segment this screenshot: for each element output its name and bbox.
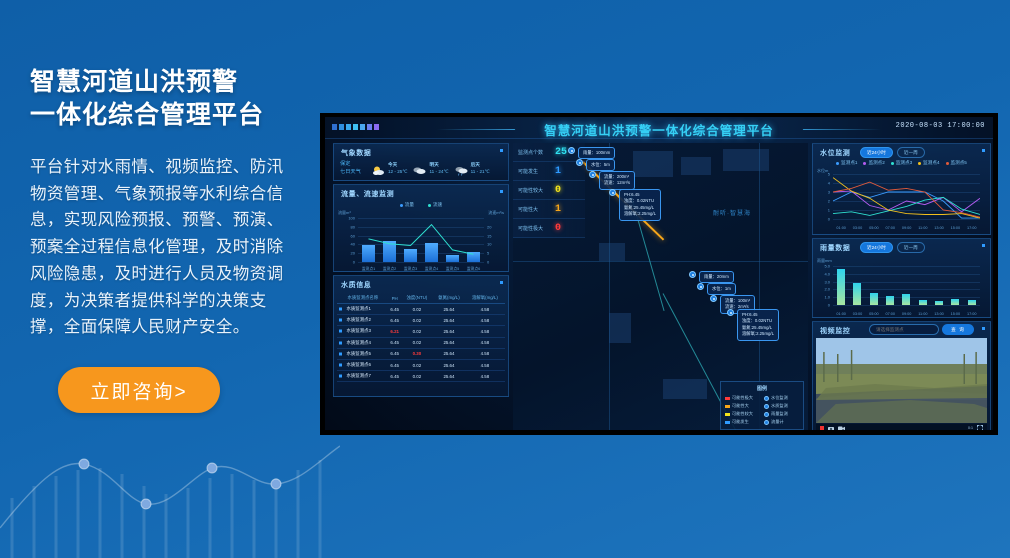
cell-point-name: 水质监测点7 [337, 371, 388, 382]
cell-ph: 6.21 [388, 326, 401, 337]
water-quality-icon[interactable] [727, 309, 734, 316]
bar [853, 283, 861, 305]
panel-indicator-dot [982, 327, 985, 330]
stat-label: 可能发生 [513, 168, 555, 175]
video-feed[interactable] [816, 338, 987, 423]
stat-value: 1 [555, 166, 561, 177]
bar [837, 269, 845, 305]
cell-dissolved-oxygen: 4.58 [465, 315, 504, 326]
video-controls[interactable]: 0:1 [816, 424, 987, 430]
cell-ammonia: 25.64 [433, 348, 466, 359]
table-col-header: 水质监测点名称 [337, 293, 388, 304]
legend-risk-item: 可能性极大 [725, 395, 760, 401]
cell-point-name: 水质监测点2 [337, 315, 388, 326]
table-row[interactable]: 水质监测点56.450.3025.644.58 [337, 348, 504, 359]
tab-rain-week[interactable]: 近一周 [897, 242, 925, 253]
legend-item-flow: 流量 [400, 202, 414, 208]
map-tooltip[interactable]: PH:6.45浊度：0.02NTU氨氮:25.45mg/L溶解氧:2.25mg/… [609, 189, 661, 221]
fullscreen-icon[interactable] [977, 425, 983, 430]
bar [902, 294, 910, 305]
cell-ph: 6.45 [388, 348, 401, 359]
x-tick: 17:00 [967, 226, 977, 230]
x-tick: 05:00 [869, 226, 879, 230]
x-tick: 03:00 [853, 312, 863, 316]
water-level-range-tabs[interactable]: 近24小时 近一周 [860, 147, 925, 158]
rainfall-panel: 雨量数据 近24小时 近一周 雨量mm 01.02.03.04.05.0 01:… [812, 238, 991, 318]
x-tick: 11:00 [918, 226, 927, 230]
flow-chart-legend: 流量 流速 [334, 202, 508, 208]
x-tick: 07:00 [886, 312, 896, 316]
record-icon[interactable] [820, 426, 824, 430]
map-legend: 图例 可能性极大水位监测可能性大水质监测可能性较大雨量监测可能发生流量计 [720, 381, 804, 430]
bar [935, 301, 943, 305]
tooltip-content: 雨量：100mm [578, 147, 615, 159]
x-tick: 09:00 [902, 226, 912, 230]
table-col-header: 氨氮(mg/L) [433, 293, 466, 304]
table-col-header: PH [388, 293, 401, 304]
weather-day-0-text: 今天 12 - 25℃ [388, 162, 407, 176]
legend-device-item: 流量计 [764, 419, 799, 425]
dashboard-header: 智慧河道山洪预警一体化综合管理平台 2020-08-03 17:00:00 [325, 117, 993, 139]
legend-item: 监测点1 [836, 160, 857, 166]
cell-ph: 6.45 [388, 371, 401, 382]
water-quality-panel: 水质信息 水质监测点名称PH浊度(NTU)氨氮(mg/L)溶解氧(mg/L) 水… [333, 275, 509, 397]
rain-gauge-icon [764, 412, 769, 417]
level-x-tick-labels: 01:0003:0005:0007:0009:0011:0013:0015:00… [833, 226, 980, 230]
legend-device-item: 水质监测 [764, 403, 799, 409]
tab-level-week[interactable]: 近一周 [897, 147, 925, 158]
dashboard-timestamp: 2020-08-03 17:00:00 [896, 122, 985, 130]
water-quality-panel-title: 水质信息 [334, 276, 508, 290]
bar [886, 296, 894, 305]
decorative-wave-graphic [0, 438, 340, 558]
x-tick: 03:00 [853, 226, 863, 230]
panel-indicator-dot [500, 149, 503, 152]
tooltip-content: 流量：200m³流速：12m³/s [599, 171, 635, 190]
video-timecode: 0:1 [968, 426, 973, 430]
cell-turbidity: 0.02 [401, 337, 432, 348]
cell-ph: 6.45 [388, 337, 401, 348]
weather-day-2-text: 后天 11 - 21℃ [471, 162, 490, 176]
stat-row: 可能性大1 [513, 200, 585, 219]
cell-ammonia: 25.64 [433, 371, 466, 382]
table-row[interactable]: 水质监测点76.450.0225.644.58 [337, 371, 504, 382]
x-tick: 监测点5 [446, 267, 460, 272]
cell-point-name: 水质监测点5 [337, 348, 388, 359]
map-tooltip[interactable]: 雨量：100mm [568, 147, 615, 159]
legend-item: 监测点5 [946, 160, 967, 166]
bar [951, 299, 959, 305]
rain-gauge-icon[interactable] [689, 271, 696, 278]
page-title: 智慧河道山洪预警 一体化综合管理平台 [30, 66, 300, 132]
table-row[interactable]: 水质监测点36.210.0225.644.58 [337, 326, 504, 337]
x-tick: 07:00 [886, 226, 896, 230]
bar [919, 300, 927, 305]
stat-value: 0 [555, 185, 561, 196]
legend-risk-item: 可能性大 [725, 403, 760, 409]
stat-row: 可能发生1 [513, 162, 585, 181]
table-row[interactable]: 水质监测点66.450.0225.644.58 [337, 359, 504, 370]
rain-icon [454, 163, 469, 174]
weather-city: 保定 七日天气 [340, 161, 366, 177]
map-tooltip[interactable]: PH:6.45浊度：0.02NTU氨氮:25.45mg/L溶解氧:2.25mg/… [727, 309, 779, 341]
legend-item-velocity: 流速 [428, 202, 442, 208]
marketing-column: 智慧河道山洪预警 一体化综合管理平台 平台针对水雨情、视频监控、防汛物资管理、气… [30, 66, 300, 413]
water-level-icon[interactable] [576, 159, 583, 166]
x-tick: 17:00 [967, 312, 977, 316]
map-tooltip[interactable]: 水位：1m [697, 283, 736, 295]
water-quality-icon [764, 404, 769, 409]
flow-meter-icon [764, 420, 769, 425]
level-y-axis-label: 水位m [817, 168, 828, 174]
legend-risk-item: 可能性较大 [725, 411, 760, 417]
table-row[interactable]: 水质监测点16.450.0225.644.58 [337, 304, 504, 315]
table-header-row: 水质监测点名称PH浊度(NTU)氨氮(mg/L)溶解氧(mg/L) [337, 293, 504, 304]
legend-device-item: 雨量监测 [764, 411, 799, 417]
cell-point-name: 水质监测点6 [337, 359, 388, 370]
cell-dissolved-oxygen: 4.58 [465, 304, 504, 315]
x-tick: 13:00 [934, 312, 944, 316]
x-tick: 01:00 [836, 312, 846, 316]
table-row[interactable]: 水质监测点26.450.0225.644.58 [337, 315, 504, 326]
monitor-point-input[interactable] [869, 324, 939, 335]
flow-monitor-panel: 流量、流速监测 流量 流速 流量m³ 流速m³/s 00205401060158… [333, 184, 509, 272]
flow-meter-icon[interactable] [710, 295, 717, 302]
cell-dissolved-oxygen: 4.58 [465, 348, 504, 359]
cell-ph: 6.45 [388, 315, 401, 326]
flow-meter-icon[interactable] [589, 171, 596, 178]
cell-ammonia: 25.64 [433, 337, 466, 348]
water-level-panel: 水位监测 近24小时 近一周 监测点1监测点2监测点3监测点4监测点5 水位m … [812, 143, 991, 235]
cell-ammonia: 25.64 [433, 326, 466, 337]
x-tick: 11:00 [918, 312, 927, 316]
cell-ph: 6.45 [388, 359, 401, 370]
tooltip-content: 水位：5m [586, 159, 615, 171]
flow-chart: 流量m³ 流速m³/s 00205401060158020100 监测点1监测点… [338, 210, 504, 272]
consult-now-button[interactable]: 立即咨询> [58, 367, 220, 413]
legend-device-item: 水位监测 [764, 395, 799, 401]
water-quality-table: 水质监测点名称PH浊度(NTU)氨氮(mg/L)溶解氧(mg/L) 水质监测点1… [337, 293, 504, 382]
video-surveillance-panel: 视频监控 查 询 [812, 321, 991, 430]
x-tick: 监测点3 [404, 267, 418, 272]
cloud-icon [412, 163, 427, 174]
cell-turbidity: 0.02 [401, 304, 432, 315]
table-col-header: 溶解氧(mg/L) [465, 293, 504, 304]
cell-ammonia: 25.64 [433, 304, 466, 315]
bar [968, 300, 976, 305]
cell-turbidity: 0.02 [401, 315, 432, 326]
rain-gauge-icon[interactable] [568, 147, 575, 154]
water-level-chart: 水位m 012345 01:0003:0005:0007:0009:0011:0… [817, 168, 986, 230]
cell-turbidity: 0.02 [401, 359, 432, 370]
bar [870, 293, 878, 305]
x-tick: 15:00 [951, 226, 961, 230]
tooltip-content: PH:6.45浊度：0.02NTU氨氮:25.45mg/L溶解氧:2.25mg/… [737, 309, 779, 341]
water-quality-icon[interactable] [609, 189, 616, 196]
stat-value: 25 [555, 147, 567, 158]
tooltip-content: PH:6.45浊度：0.02NTU氨氮:25.45mg/L溶解氧:2.25mg/… [619, 189, 661, 221]
tab-level-24h[interactable]: 近24小时 [860, 147, 893, 158]
stat-value: 0 [555, 223, 561, 234]
stat-label: 监测点个数 [513, 149, 555, 156]
x-tick: 13:00 [934, 226, 944, 230]
flow-panel-title: 流量、流速监测 [334, 185, 508, 199]
gis-map-panel[interactable]: 耐听·智慧海 监测点个数25可能发生1可能性较大0可能性大1可能性极大0 雨量：… [513, 143, 808, 430]
panel-indicator-dot [982, 244, 985, 247]
cell-dissolved-oxygen: 4.58 [465, 337, 504, 348]
stat-value: 1 [555, 204, 561, 215]
x-tick: 15:00 [951, 312, 961, 316]
map-tooltip[interactable]: 雨量：20mm [689, 271, 734, 283]
rainfall-range-tabs[interactable]: 近24小时 近一周 [860, 242, 925, 253]
cell-point-name: 水质监测点3 [337, 326, 388, 337]
legend-item: 监测点3 [891, 160, 912, 166]
cell-ammonia: 25.64 [433, 359, 466, 370]
water-level-legend: 监测点1监测点2监测点3监测点4监测点5 [813, 160, 990, 166]
tab-rain-24h[interactable]: 近24小时 [860, 242, 893, 253]
page-title-line2: 一体化综合管理平台 [30, 99, 300, 132]
cell-dissolved-oxygen: 4.58 [465, 371, 504, 382]
cell-dissolved-oxygen: 4.58 [465, 326, 504, 337]
stat-row: 可能性极大0 [513, 219, 585, 238]
map-watermark: 耐听·智慧海 [713, 208, 751, 217]
weather-day-2: 后天 11 - 21℃ [454, 162, 490, 176]
weather-day-0: 今天 12 - 25℃ [371, 162, 407, 176]
x-tick: 监测点2 [383, 267, 397, 272]
cell-turbidity: 0.02 [401, 371, 432, 382]
x-tick: 监测点1 [362, 267, 376, 272]
panel-indicator-dot [500, 190, 503, 193]
tooltip-content: 雨量：20mm [699, 271, 734, 283]
weather-panel-title: 气象数据 [334, 144, 508, 158]
cell-ph: 6.45 [388, 304, 401, 315]
cell-dissolved-oxygen: 4.58 [465, 359, 504, 370]
weather-day-1: 明天 11 - 24℃ [412, 162, 448, 176]
legend-item: 监测点4 [918, 160, 939, 166]
stat-label: 可能性大 [513, 206, 555, 213]
tooltip-content: 水位：1m [707, 283, 736, 295]
flow-x-tick-labels: 监测点1监测点2监测点3监测点4监测点5监测点6 [358, 267, 484, 272]
cell-point-name: 水质监测点4 [337, 337, 388, 348]
flow-y2-axis-label: 流速m³/s [488, 210, 504, 216]
cell-turbidity: 0.02 [401, 326, 432, 337]
map-legend-title: 图例 [725, 385, 799, 392]
dashboard-title: 智慧河道山洪预警一体化综合管理平台 [325, 120, 993, 139]
weather-panel: 气象数据 保定 七日天气 今天 12 - 25℃ [333, 143, 509, 181]
x-tick: 监测点4 [425, 267, 439, 272]
panel-indicator-dot [500, 281, 503, 284]
cell-point-name: 水质监测点1 [337, 304, 388, 315]
x-tick: 监测点6 [467, 267, 481, 272]
legend-risk-item: 可能发生 [725, 419, 760, 425]
x-tick: 01:00 [836, 226, 846, 230]
map-tooltip[interactable]: 流量：200m³流速：12m³/s [589, 171, 635, 190]
water-level-icon[interactable] [697, 283, 704, 290]
snapshot-icon[interactable] [828, 426, 834, 431]
legend-item: 监测点2 [863, 160, 884, 166]
stat-label: 可能性较大 [513, 187, 555, 194]
hero-description: 平台针对水雨情、视频监控、防汛物资管理、气象预报等水利综合信息，实现风险预报、预… [30, 154, 288, 341]
camera-icon[interactable] [838, 426, 845, 431]
cell-ammonia: 25.64 [433, 315, 466, 326]
rain-x-tick-labels: 01:0003:0005:0007:0009:0011:0013:0015:00… [833, 312, 980, 316]
rainfall-chart: 雨量mm 01.02.03.04.05.0 01:0003:0005:0007:… [817, 258, 986, 316]
stat-row: 可能性较大0 [513, 181, 585, 200]
x-tick: 05:00 [869, 312, 879, 316]
table-col-header: 浊度(NTU) [401, 293, 432, 304]
panel-indicator-dot [982, 149, 985, 152]
table-row[interactable]: 水质监测点46.450.0225.644.58 [337, 337, 504, 348]
x-tick: 09:00 [902, 312, 912, 316]
stat-label: 可能性极大 [513, 225, 555, 232]
sun-icon [371, 163, 386, 174]
video-search-button[interactable]: 查 询 [942, 324, 974, 335]
water-level-icon [764, 396, 769, 401]
weather-day-1-text: 明天 11 - 24℃ [429, 162, 448, 176]
dashboard-screenshot: 智慧河道山洪预警一体化综合管理平台 2020-08-03 17:00:00 气象… [320, 113, 998, 435]
map-tooltip[interactable]: 水位：5m [576, 159, 615, 171]
page-title-line1: 智慧河道山洪预警 [30, 66, 300, 99]
cell-turbidity: 0.30 [401, 348, 432, 359]
